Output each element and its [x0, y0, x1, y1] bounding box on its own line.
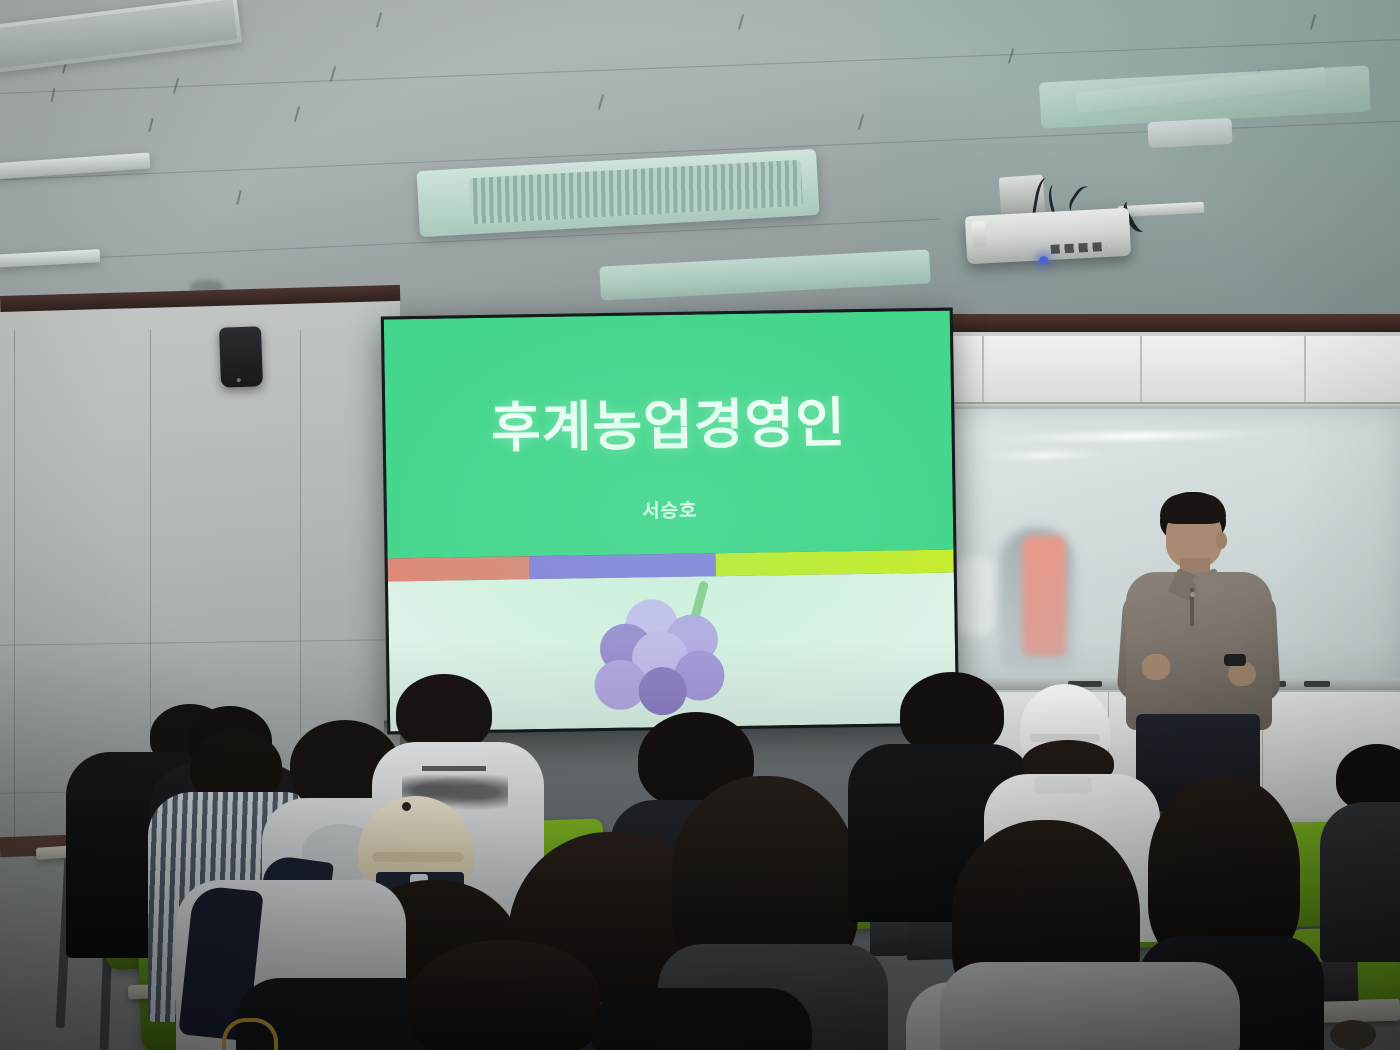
- marker[interactable]: [1304, 681, 1330, 687]
- whiteboard-reflection-pink: [1022, 536, 1066, 656]
- student-top: [592, 988, 812, 1050]
- right-wall-trim: [940, 314, 1400, 332]
- bag-handle: [222, 1018, 278, 1050]
- classroom-photo-scene: 후계농업경영인 서승호: [0, 0, 1400, 1050]
- slide-title: 후계농업경영인: [385, 376, 952, 464]
- wall-panel-seam: [14, 330, 15, 850]
- cap-seam: [372, 852, 464, 862]
- presenter-wristwatch: [1224, 654, 1246, 666]
- presenter-ear: [1216, 532, 1227, 549]
- cabinet-divider: [1140, 336, 1142, 402]
- speaker-led: [237, 378, 241, 382]
- presenter-left-hand: [1142, 654, 1170, 680]
- desk-item: [1330, 1020, 1376, 1050]
- tshirt-graphic-text: [422, 766, 486, 771]
- projection-screen: 후계농업경영인 서승호: [381, 308, 959, 735]
- whiteboard-reflection-white: [956, 556, 994, 636]
- student-hair: [396, 674, 492, 752]
- grape-cluster-illustration: [593, 578, 745, 720]
- cabinet-divider: [1304, 336, 1306, 402]
- presentation-slide: 후계농업경영인 서승호: [384, 311, 956, 732]
- presenter-hair-front: [1160, 494, 1226, 524]
- presenter-shirt-button: [1190, 592, 1195, 597]
- student-top: [1320, 802, 1400, 962]
- purple-bar: [529, 553, 716, 579]
- cabinet-divider: [982, 336, 984, 402]
- projector-lens: [971, 221, 986, 248]
- presenter: [1120, 492, 1280, 812]
- cap-button: [402, 802, 411, 811]
- upper-cabinets[interactable]: [952, 336, 1400, 404]
- wall-speaker: [219, 326, 263, 387]
- grape-berry: [638, 666, 687, 715]
- vent-grille: [469, 160, 803, 224]
- projector-ports: [1050, 242, 1106, 254]
- student-hoodie: [940, 962, 1240, 1050]
- smoke-detector: [1147, 118, 1232, 148]
- polo-collar: [1034, 776, 1092, 794]
- salmon-bar: [388, 556, 530, 581]
- student-hair: [410, 940, 600, 1050]
- wall-panel-seam: [300, 330, 301, 760]
- ceiling-projector: [965, 208, 1131, 265]
